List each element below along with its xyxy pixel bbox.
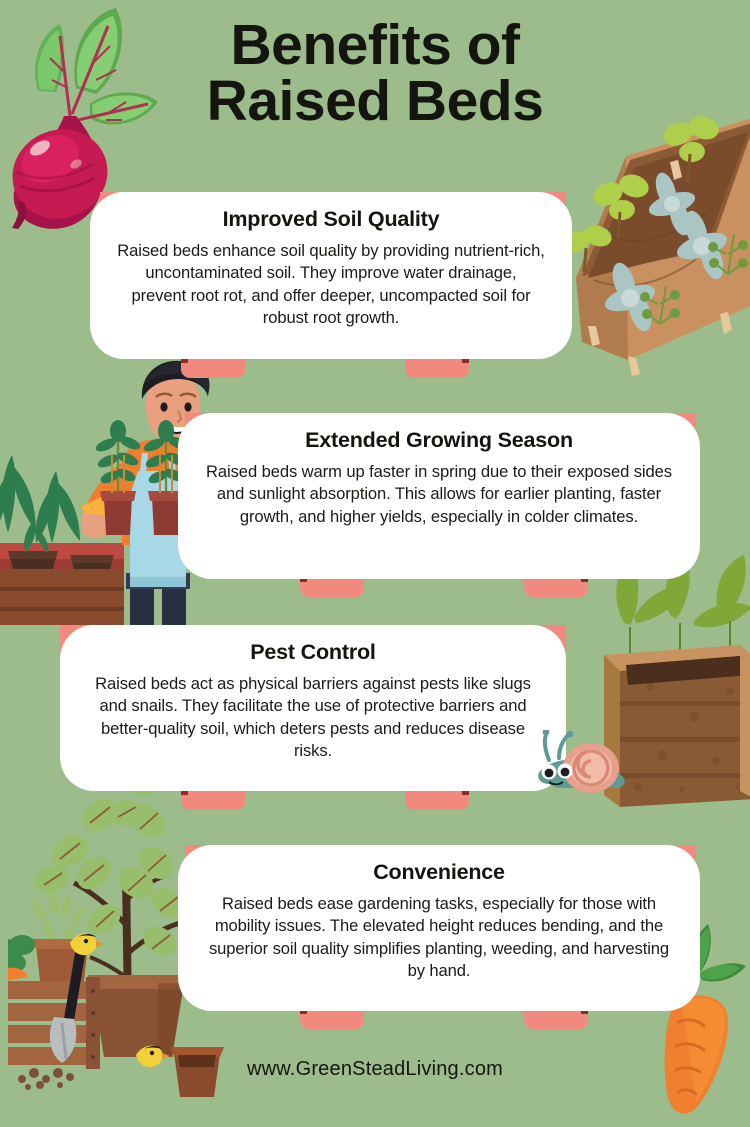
benefit-card-3: Pest Control Raised beds act as physical… — [60, 625, 566, 791]
raised-garden-bed-illustration — [570, 108, 750, 388]
benefit-card-1-body: Raised beds enhance soil quality by prov… — [116, 240, 546, 329]
benefit-card-4: Convenience Raised beds ease gardening t… — [178, 845, 700, 1011]
benefit-card-3-heading: Pest Control — [86, 639, 540, 666]
snail-illustration — [535, 730, 635, 800]
benefit-card-2-body: Raised beds warm up faster in spring due… — [204, 461, 674, 528]
footer-url[interactable]: www.GreenSteadLiving.com — [0, 1058, 750, 1081]
benefit-card-2-heading: Extended Growing Season — [204, 427, 674, 454]
page-title-line-2: Raised Beds — [0, 74, 750, 130]
page-title: Benefits of Raised Beds — [0, 18, 750, 130]
infographic-canvas: Improved Soil Quality Raised beds enhanc… — [0, 0, 750, 1125]
benefit-card-2: Extended Growing Season Raised beds warm… — [178, 413, 700, 579]
benefit-card-4-body: Raised beds ease gardening tasks, especi… — [204, 893, 674, 982]
page-title-line-1: Benefits of — [230, 13, 519, 77]
benefit-card-1-heading: Improved Soil Quality — [116, 206, 546, 233]
benefit-card-4-heading: Convenience — [204, 859, 674, 886]
benefit-card-1: Improved Soil Quality Raised beds enhanc… — [90, 192, 572, 359]
benefit-card-3-body: Raised beds act as physical barriers aga… — [86, 673, 540, 762]
